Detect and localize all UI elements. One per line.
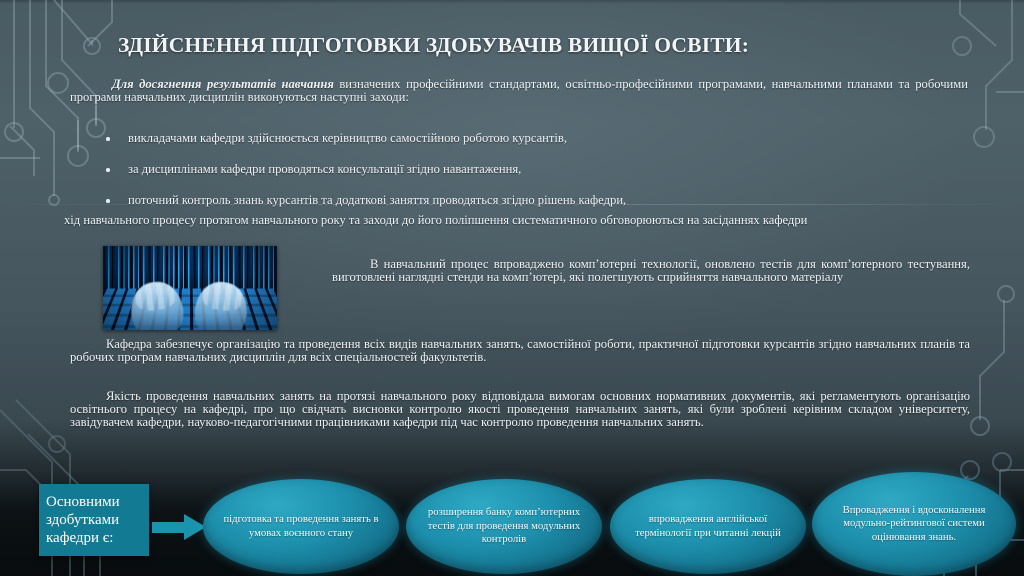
paragraph-computer-tech-text: В навчальний процес впроваджено комп’юте… (332, 257, 970, 284)
achievement-oval-1: підготовка та проведення занять в умовах… (203, 479, 399, 574)
achievement-oval-4-text: Впровадження і вдосконалення модульно-ре… (812, 504, 1016, 544)
paragraph-intro: Для досягнення результатів навчання визн… (70, 78, 968, 104)
paragraph-quality: Якість проведення навчальних занять на п… (70, 390, 970, 429)
arrow-shaft (152, 522, 186, 533)
list-item: поточний контроль знань курсантів та дод… (82, 193, 962, 208)
achievement-oval-2: розширення банку комп’ютерних тестів для… (406, 479, 602, 574)
achievements-label-text: Основними здобутками кафедри є: (39, 493, 149, 548)
achievement-oval-2-text: розширення банку комп’ютерних тестів для… (406, 506, 602, 546)
measures-bullet-list: викладачами кафедри здійснюється керівни… (82, 131, 962, 224)
list-item: за дисциплінами кафедри проводяться конс… (82, 162, 962, 177)
paragraph-process: хід навчального процесу протягом навчаль… (64, 214, 972, 227)
typing-hands-photo (103, 246, 277, 330)
achievement-oval-3-text: впровадження англійської термінології пр… (610, 513, 806, 540)
achievement-oval-1-text: підготовка та проведення занять в умовах… (203, 513, 399, 540)
presentation-slide: ЗДІЙСНЕННЯ ПІДГОТОВКИ ЗДОБУВАЧІВ ВИЩОЇ О… (0, 0, 1024, 576)
achievements-label-box: Основними здобутками кафедри є: (39, 484, 149, 556)
list-item: викладачами кафедри здійснюється керівни… (82, 131, 962, 146)
photo-vignette (103, 246, 277, 330)
paragraph-department-organization: Кафедра забезпечує організацію та провед… (70, 338, 970, 364)
paragraph-computer-tech: В навчальний процес впроваджено комп’юте… (332, 258, 970, 284)
page-title: ЗДІЙСНЕННЯ ПІДГОТОВКИ ЗДОБУВАЧІВ ВИЩОЇ О… (118, 33, 878, 58)
paragraph-quality-text: Якість проведення навчальних занять на п… (70, 389, 970, 429)
achievement-oval-3: впровадження англійської термінології пр… (610, 479, 806, 574)
arrow-right-icon (152, 514, 210, 540)
paragraph-department-organization-text: Кафедра забезпечує організацію та провед… (70, 337, 970, 364)
achievement-oval-4: Впровадження і вдосконалення модульно-ре… (812, 472, 1016, 576)
